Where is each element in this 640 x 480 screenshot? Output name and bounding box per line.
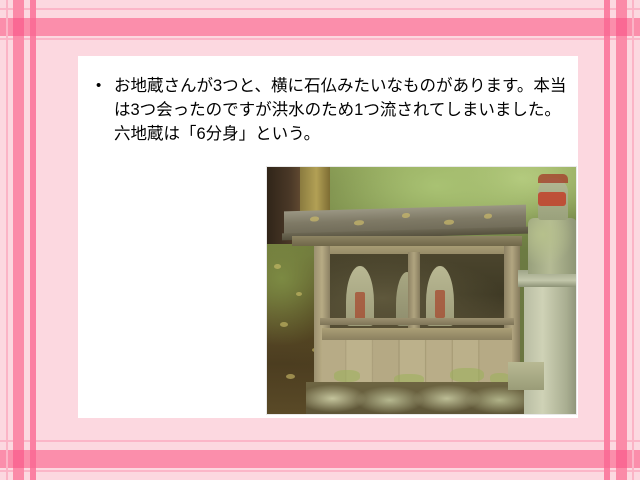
border-stripe-right-accent	[604, 0, 610, 480]
photo-border	[266, 166, 577, 415]
bullet-list: • お地蔵さんが3つと、横に石仏みたいなものがあります。本当は3つ会ったのですが…	[96, 74, 574, 146]
border-stripe-bottom-thin-inner	[0, 440, 640, 442]
plaid-cross-bottom-right-accent	[604, 450, 610, 468]
border-stripe-bottom-thin-outer	[0, 470, 640, 472]
plaid-cross-bottom-left	[13, 450, 24, 468]
plaid-cross-bottom-right	[616, 450, 627, 468]
border-stripe-top-wide	[0, 18, 640, 36]
slide-canvas: • お地蔵さんが3つと、横に石仏みたいなものがあります。本当は3つ会ったのですが…	[0, 0, 640, 480]
plaid-cross-bottom-left-accent	[30, 450, 36, 468]
border-stripe-top-thin-outer	[0, 8, 640, 10]
bullet-text: お地蔵さんが3つと、横に石仏みたいなものがあります。本当は3つ会ったのですが洪水…	[114, 74, 574, 146]
roadside-jizo-shrine-photo	[266, 166, 577, 415]
border-stripe-top-thin-inner	[0, 38, 640, 40]
border-stripe-left-wide	[13, 0, 24, 480]
plaid-cross-top-left	[13, 18, 24, 36]
plaid-cross-top-right	[616, 18, 627, 36]
border-stripe-left-thin-outer	[6, 0, 8, 480]
plaid-cross-top-left-accent	[30, 18, 36, 36]
list-item: • お地蔵さんが3つと、横に石仏みたいなものがあります。本当は3つ会ったのですが…	[96, 74, 574, 146]
border-stripe-left-accent	[30, 0, 36, 480]
border-stripe-right-thin-outer	[632, 0, 634, 480]
border-stripe-bottom-wide	[0, 450, 640, 468]
plaid-cross-top-right-accent	[604, 18, 610, 36]
border-stripe-right-wide	[616, 0, 627, 480]
bullet-marker-icon: •	[96, 74, 114, 98]
